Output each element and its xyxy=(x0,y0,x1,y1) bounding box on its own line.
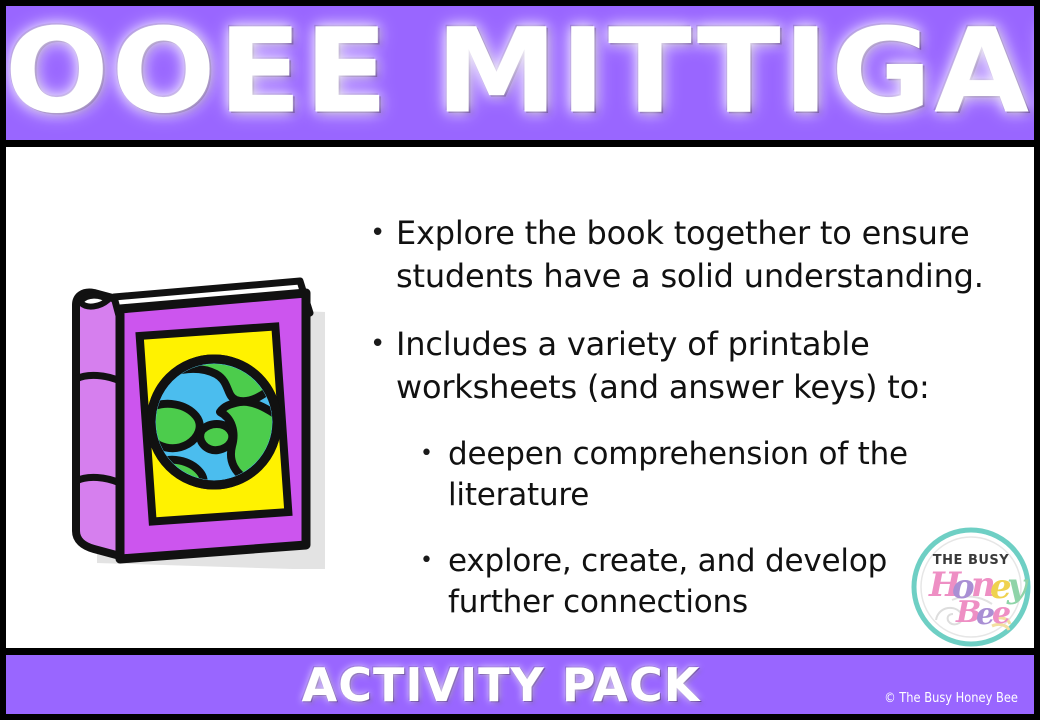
list-item-text: Explore the book together to ensure stud… xyxy=(396,212,988,297)
feature-sub-list: • deepen comprehension of the literature… xyxy=(418,434,988,623)
main-content-area: • Explore the book together to ensure st… xyxy=(6,154,1034,651)
footer-title: ACTIVITY PACK xyxy=(6,662,1034,708)
logo-line3: B e e xyxy=(955,595,1011,632)
feature-list: • Explore the book together to ensure st… xyxy=(368,212,988,647)
bullet-marker-icon: • xyxy=(418,434,448,474)
list-item-text: Includes a variety of printable workshee… xyxy=(396,323,988,408)
bullet-marker-icon: • xyxy=(418,541,448,581)
header-banner: COOEE MITTIGAR xyxy=(6,6,1034,147)
bullet-marker-icon: • xyxy=(368,323,396,365)
list-item-text: explore, create, and develop further con… xyxy=(448,541,988,623)
copyright-credit: © The Busy Honey Bee xyxy=(884,691,1018,706)
book-illustration xyxy=(54,269,344,569)
svg-text:e: e xyxy=(992,596,1011,631)
list-item: • explore, create, and develop further c… xyxy=(418,541,988,623)
list-item: • deepen comprehension of the literature xyxy=(418,434,988,516)
bullet-marker-icon: • xyxy=(368,212,396,254)
footer-banner: ACTIVITY PACK © The Busy Honey Bee xyxy=(6,648,1034,714)
page-title: COOEE MITTIGAR xyxy=(6,13,1034,129)
brand-logo: THE BUSY H o n e y B e e xyxy=(908,524,1034,650)
activity-pack-slide: COOEE MITTIGAR xyxy=(0,0,1040,720)
the-busy-honey-bee-logo-icon: THE BUSY H o n e y B e e xyxy=(908,524,1034,650)
book-with-globe-icon xyxy=(54,269,344,569)
list-item: • Explore the book together to ensure st… xyxy=(368,212,988,297)
list-item-text: deepen comprehension of the literature xyxy=(448,434,988,516)
list-item: • Includes a variety of printable worksh… xyxy=(368,323,988,408)
